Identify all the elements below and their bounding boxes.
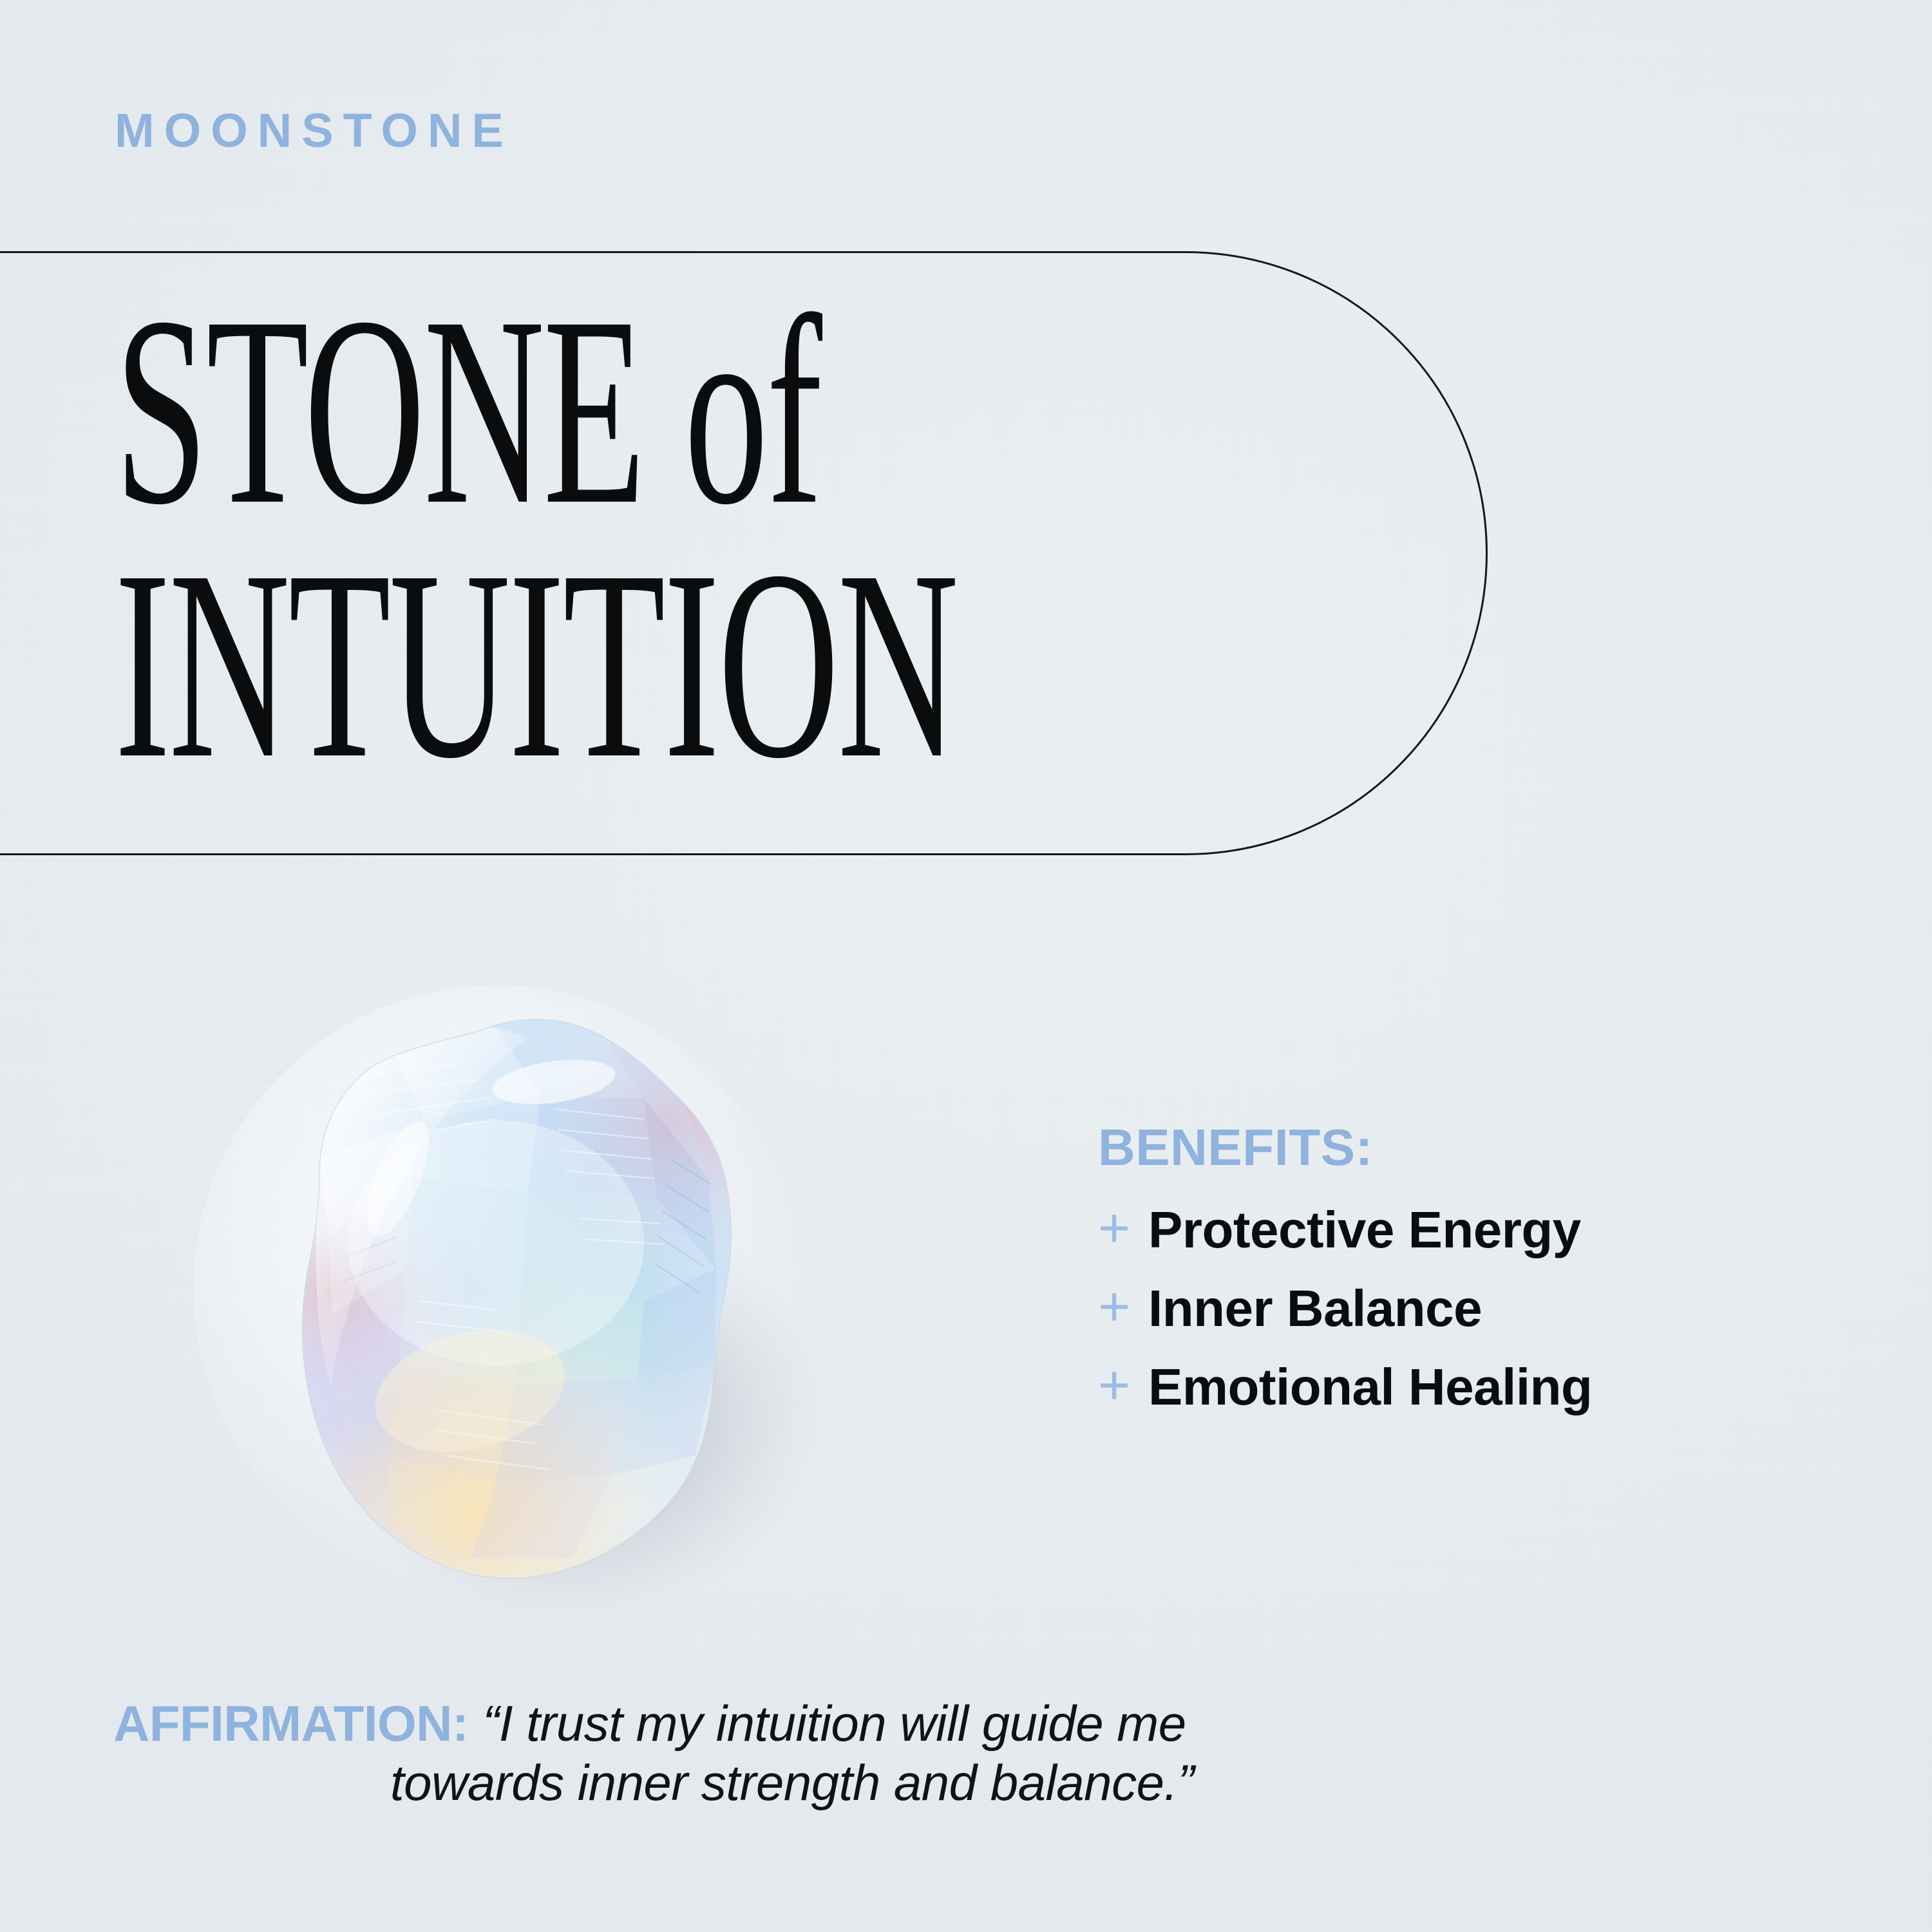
benefit-label: Inner Balance [1148,1283,1482,1334]
benefit-label: Emotional Healing [1148,1361,1592,1413]
benefit-item: + Emotional Healing [1098,1356,1884,1418]
moonstone-svg [193,966,837,1616]
affirmation-quote-line-1: “I trust my intuition will guide me [482,1695,1186,1752]
headline-line-1: STONE of [115,303,913,519]
moonstone-crystal-image [193,966,837,1616]
plus-icon: + [1098,1279,1148,1334]
affirmation-quote-line-2: towards inner strength and balance.” [113,1753,1194,1812]
benefit-item: + Protective Energy [1098,1199,1884,1261]
affirmation-section: AFFIRMATION: “I trust my intuition will … [113,1694,1852,1812]
benefits-section: BENEFITS: + Protective Energy + Inner Ba… [1098,1122,1884,1418]
plus-icon: + [1098,1200,1148,1256]
headline-line-2: INTUITION [115,556,913,773]
benefit-item: + Inner Balance [1098,1278,1884,1340]
plus-icon: + [1098,1358,1148,1413]
benefits-heading: BENEFITS: [1098,1122,1884,1173]
affirmation-label: AFFIRMATION: [113,1694,468,1753]
page-title: STONE of INTUITION [115,303,1403,773]
benefit-label: Protective Energy [1148,1204,1581,1256]
category-eyebrow-label: MOONSTONE [115,107,513,155]
